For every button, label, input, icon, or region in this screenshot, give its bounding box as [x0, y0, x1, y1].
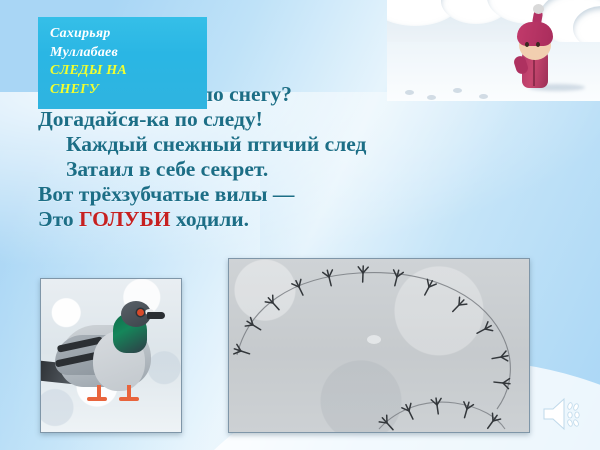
- poem-final-line: Это ГОЛУБИ ходили.: [38, 207, 578, 232]
- pigeon-foot: [119, 397, 139, 401]
- hat-pompom: [533, 4, 544, 14]
- poem-accent-word: ГОЛУБИ: [79, 207, 171, 231]
- work-title-line-2: СНЕГУ: [50, 81, 197, 100]
- presentation-slide: Сахирьяр Муллабаев СЛЕДЫ НА СНЕГУ Кто ра…: [0, 0, 600, 450]
- poem-line: Догадайся-ка по следу!: [38, 107, 578, 132]
- speaker-icon[interactable]: [540, 394, 586, 434]
- work-title-line-1: СЛЕДЫ НА: [50, 62, 197, 81]
- pigeon-beak: [147, 312, 165, 319]
- pigeon-foot: [87, 397, 107, 401]
- title-box: Сахирьяр Муллабаев СЛЕДЫ НА СНЕГУ: [38, 17, 207, 109]
- poem-line: Каждый снежный птичий след: [38, 132, 578, 157]
- pigeon-eye: [137, 309, 144, 316]
- bird-tracks-photo: [228, 258, 530, 433]
- girl-eye-left: [525, 42, 529, 47]
- poem-line: Вот трёхзубчатые вилы —: [38, 182, 578, 207]
- girl-hat: [517, 22, 553, 46]
- bird-track-trail: [229, 259, 529, 432]
- author-line-2: Муллабаев: [50, 44, 197, 63]
- author-line-1: Сахирьяр: [50, 25, 197, 44]
- girl-eye-right: [536, 42, 540, 47]
- poem-final-after: ходили.: [171, 207, 250, 231]
- poem-line: Затаил в себе секрет.: [38, 157, 578, 182]
- poem-final-before: Это: [38, 207, 79, 231]
- pigeon-photo: [40, 278, 182, 433]
